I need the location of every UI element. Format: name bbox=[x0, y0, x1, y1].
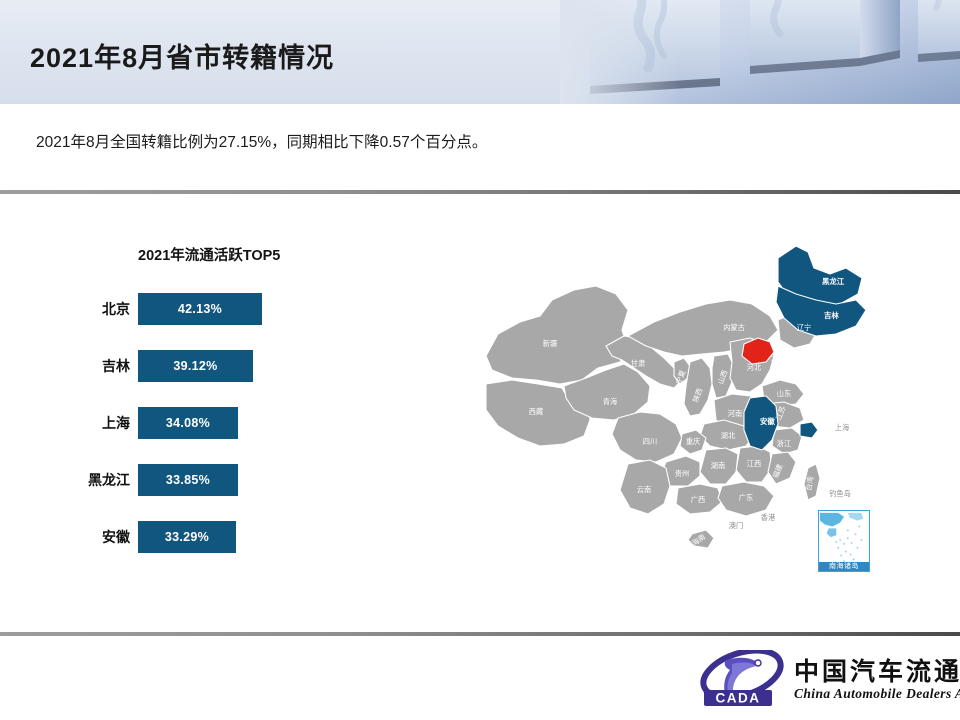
bar-track: 33.29% bbox=[138, 521, 262, 553]
bar-category-label: 上海 bbox=[58, 407, 130, 439]
bar-category-label: 黑龙江 bbox=[58, 464, 130, 496]
label-jiangxi: 江西 bbox=[747, 459, 761, 468]
bar-fill: 34.08% bbox=[138, 407, 238, 439]
bar-value-label: 33.85% bbox=[166, 473, 210, 487]
bar-track: 34.08% bbox=[138, 407, 262, 439]
top5-bar-chart: 2021年流通活跃TOP5 北京42.13%吉林39.12%上海34.08%黑龙… bbox=[0, 0, 420, 400]
label-zhejiang: 浙江 bbox=[777, 439, 791, 448]
bar-value-label: 39.12% bbox=[173, 359, 217, 373]
divider-bottom bbox=[0, 632, 960, 636]
bar-category-label: 吉林 bbox=[58, 350, 130, 382]
label-guangxi: 广西 bbox=[691, 495, 705, 504]
chart-title: 2021年流通活跃TOP5 bbox=[138, 244, 280, 265]
bar-fill: 39.12% bbox=[138, 350, 253, 382]
cada-logo: CADA 中国汽车流通协会 China Automobile Dealers A… bbox=[696, 648, 948, 712]
bar-fill: 42.13% bbox=[138, 293, 262, 325]
bar-fill: 33.85% bbox=[138, 464, 238, 496]
china-map: 新疆 甘肃 青海 西藏 四川 内蒙古 宁夏 陕西 山西 河北 天津 山东 河南 … bbox=[478, 238, 908, 608]
label-tianjin: 天津 bbox=[771, 353, 785, 362]
header-decoration-image bbox=[560, 0, 960, 104]
label-qinghai: 青海 bbox=[603, 397, 617, 406]
label-chongqing: 重庆 bbox=[686, 437, 700, 446]
label-diaoyudao: 钓鱼岛 bbox=[829, 489, 851, 498]
label-liaoning: 辽宁 bbox=[797, 323, 811, 332]
label-macau: 澳门 bbox=[729, 521, 743, 530]
bar-fill: 33.29% bbox=[138, 521, 236, 553]
logo-name-en: China Automobile Dealers Association bbox=[794, 686, 960, 702]
label-hubei: 湖北 bbox=[721, 431, 735, 440]
label-yunnan: 云南 bbox=[637, 485, 651, 494]
label-shanghai: 上海 bbox=[835, 423, 849, 432]
bar-track: 42.13% bbox=[138, 293, 262, 325]
bar-category-label: 安徽 bbox=[58, 521, 130, 553]
label-hebei: 河北 bbox=[747, 363, 761, 372]
bar-value-label: 34.08% bbox=[166, 416, 210, 430]
label-xinjiang: 新疆 bbox=[543, 339, 557, 348]
label-henan: 河南 bbox=[728, 409, 742, 418]
label-anhui: 安徽 bbox=[760, 417, 775, 426]
label-heilongjiang: 黑龙江 bbox=[822, 277, 845, 286]
label-hongkong: 香港 bbox=[761, 513, 776, 522]
label-inner-mongolia: 内蒙古 bbox=[723, 323, 745, 332]
slide-canvas: 2021年8月省市转籍情况 2021年8月全国转籍比例为27.15%，同期相比下… bbox=[0, 0, 960, 720]
bar-track: 39.12% bbox=[138, 350, 262, 382]
bar-value-label: 42.13% bbox=[178, 302, 222, 316]
label-gansu: 甘肃 bbox=[631, 359, 645, 368]
cada-acronym: CADA bbox=[716, 691, 761, 706]
label-guangdong: 广东 bbox=[739, 493, 753, 502]
label-guizhou: 贵州 bbox=[675, 469, 689, 478]
south-china-sea-inset: 南海诸岛 bbox=[818, 510, 870, 572]
label-sichuan: 四川 bbox=[643, 437, 657, 446]
province-shanghai-highlight bbox=[800, 422, 818, 438]
cada-logo-mark: CADA bbox=[696, 650, 788, 708]
logo-name-cn: 中国汽车流通协会 bbox=[794, 652, 960, 688]
inset-label: 南海诸岛 bbox=[819, 562, 869, 571]
label-jilin: 吉林 bbox=[824, 311, 839, 320]
label-shandong: 山东 bbox=[777, 389, 791, 398]
label-hunan: 湖南 bbox=[711, 461, 725, 470]
bar-category-label: 北京 bbox=[58, 293, 130, 325]
bar-value-label: 33.29% bbox=[165, 530, 209, 544]
bar-track: 33.85% bbox=[138, 464, 262, 496]
label-tibet: 西藏 bbox=[529, 407, 543, 416]
